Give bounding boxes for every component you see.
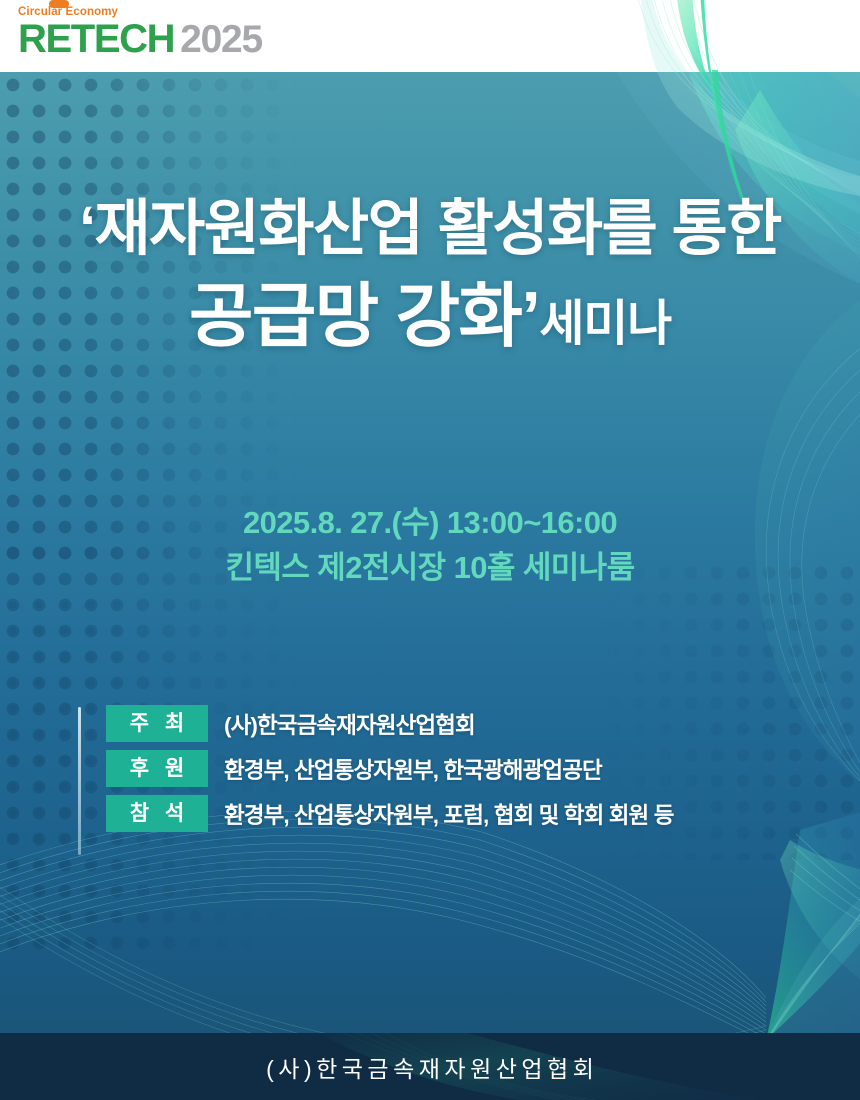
schedule-block: 2025.8. 27.(수) 13:00~16:00 킨텍스 제2전시장 10홀… [0, 500, 860, 590]
logo-accent-bar-icon [49, 0, 69, 8]
credits-block: 주 최 (사)한국금속재자원산업협회 후 원 환경부, 산업통상자원부, 한국광… [78, 705, 818, 832]
retech-logo: Circular Economy R E TECH 2025 [18, 6, 262, 59]
poster-root: Circular Economy R E TECH 2025 ‘재자원화산업 활… [0, 0, 860, 1100]
credits-label-sponsor: 후 원 [106, 750, 208, 787]
logo-tech-text: TECH [71, 19, 174, 59]
logo-letter-r: R [18, 19, 46, 59]
poster-title: ‘재자원화산업 활성화를 통한 공급망 강화’세미나 [0, 186, 860, 382]
credits-row-sponsor: 후 원 환경부, 산업통상자원부, 한국광해광업공단 [78, 750, 818, 787]
credits-value-sponsor: 환경부, 산업통상자원부, 한국광해광업공단 [224, 753, 602, 785]
credits-row-attendees: 참 석 환경부, 산업통상자원부, 포럼, 협회 및 학회 회원 등 [78, 795, 818, 832]
event-venue: 킨텍스 제2전시장 10홀 세미나룸 [0, 546, 860, 590]
credits-row-host: 주 최 (사)한국금속재자원산업협회 [78, 705, 818, 742]
logo-retech-text: R E TECH [18, 19, 174, 59]
credits-value-host: (사)한국금속재자원산업협회 [224, 708, 475, 740]
logo-letter-e: E [46, 19, 71, 59]
credits-value-attendees: 환경부, 산업통상자원부, 포럼, 협회 및 학회 회원 등 [224, 798, 674, 830]
credits-label-host: 주 최 [106, 705, 208, 742]
title-line-2-emphasis: 공급망 강화’ [189, 277, 539, 355]
event-datetime: 2025.8. 27.(수) 13:00~16:00 [0, 500, 860, 546]
title-line-2: 공급망 강화’세미나 [0, 270, 860, 382]
footer-band: (사)한국금속재자원산업협회 [0, 1033, 860, 1100]
title-line-2-suffix: 세미나 [539, 297, 671, 351]
title-line-1: ‘재자원화산업 활성화를 통한 [0, 186, 860, 270]
credits-label-attendees: 참 석 [106, 795, 208, 832]
logo-year: 2025 [180, 20, 262, 59]
credits-vertical-rule [78, 707, 81, 855]
footer-organization: (사)한국금속재자원산업협회 [262, 1050, 599, 1084]
logo-wordmark: R E TECH 2025 [18, 19, 262, 59]
